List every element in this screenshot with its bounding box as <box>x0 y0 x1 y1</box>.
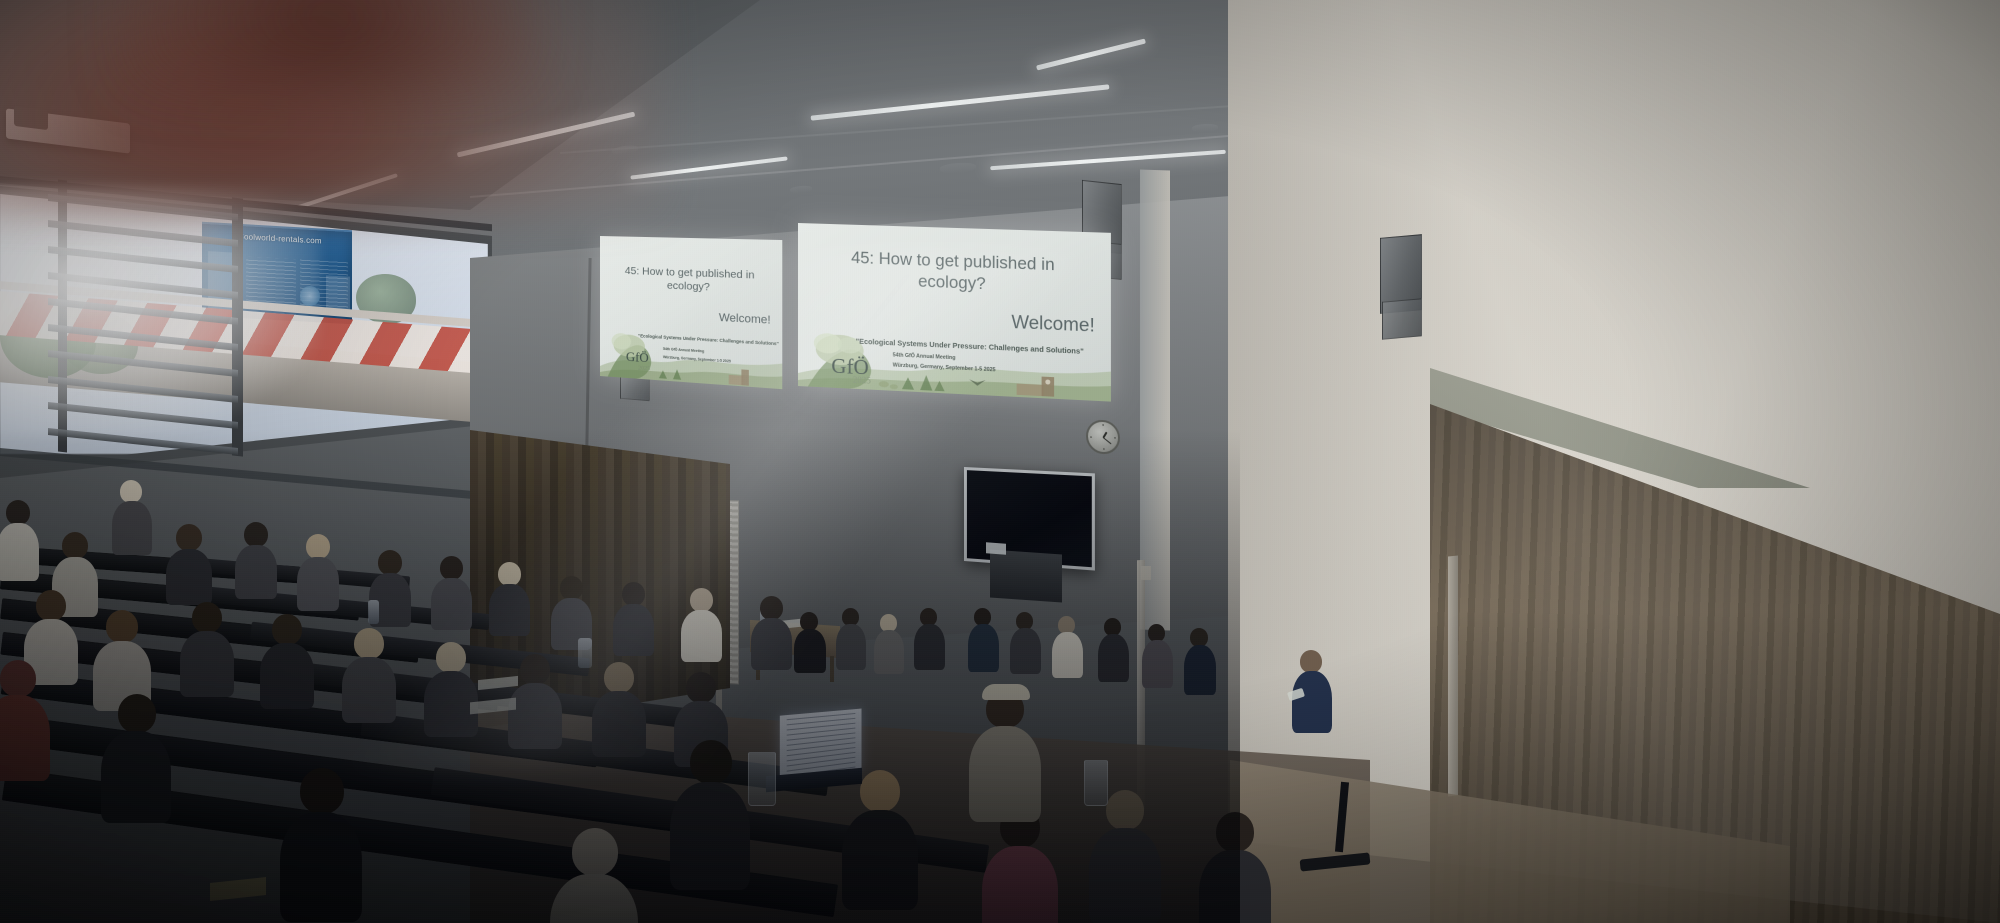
wall-trim <box>1448 555 1458 796</box>
clock-tick <box>1103 424 1104 426</box>
display-control-panel[interactable] <box>986 542 1006 554</box>
drinking-glass[interactable] <box>748 752 776 806</box>
projection-screen-right: 45: How to get published inecology? Welc… <box>798 223 1111 402</box>
projection-screen-left: 45: How to get published inecology? Welc… <box>600 236 782 389</box>
slide-welcome-right: Welcome! <box>1011 311 1094 336</box>
water-bottle[interactable] <box>368 600 379 624</box>
loudspeaker-sub-icon <box>1382 298 1422 339</box>
slide-welcome-left: Welcome! <box>719 312 771 327</box>
clock-tick <box>1114 437 1116 438</box>
clock-tick <box>1103 448 1104 450</box>
display-cabinet <box>990 549 1062 602</box>
clock-tick <box>1090 437 1092 438</box>
drinking-glass[interactable] <box>1084 760 1108 806</box>
lens-obstruction-core <box>120 0 540 90</box>
paper-sheet[interactable] <box>210 877 266 901</box>
slide-title-right: 45: How to get published inecology? <box>816 246 1091 299</box>
window-glare <box>0 186 320 436</box>
wall-fixture <box>1141 566 1151 580</box>
gfo-year-left: 2025 <box>638 366 650 373</box>
window-sill <box>0 448 492 501</box>
table-leg <box>830 656 834 682</box>
cap-icon <box>982 684 1030 700</box>
water-bottle[interactable] <box>578 638 592 668</box>
laptop-content <box>787 713 856 777</box>
clock-minute-hand <box>1103 437 1112 445</box>
gfo-logo-left: GfÖ <box>626 349 649 367</box>
gfo-year-right: 2025 <box>853 375 871 386</box>
slide-title-left: 45: How to get published inecology? <box>610 264 770 298</box>
lecture-hall-photo: Coolworld-rentals.com <box>0 0 2000 923</box>
